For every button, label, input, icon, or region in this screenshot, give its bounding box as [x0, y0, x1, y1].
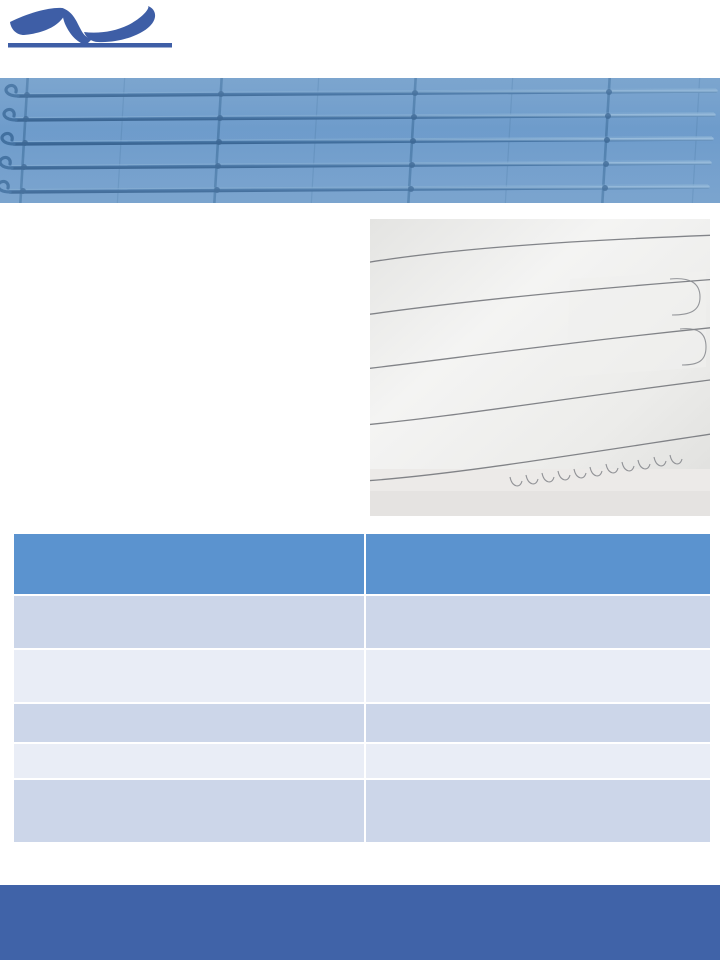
table-row: [14, 780, 710, 842]
table-cell-value: [366, 650, 710, 704]
poster-page: [0, 0, 720, 960]
product-photo: [370, 219, 710, 516]
website-url[interactable]: [0, 885, 720, 895]
table-row: [14, 650, 710, 704]
table-cell-label: [14, 704, 366, 744]
table-row: [14, 534, 710, 596]
table-cell-label: [14, 780, 366, 842]
contact-footer: [0, 885, 720, 960]
table-cell-label: [14, 650, 366, 704]
table-row: [14, 744, 710, 780]
table-cell-label: [14, 596, 366, 650]
table-cell-value: [366, 780, 710, 842]
header-banner: [0, 78, 720, 203]
table-cell-value: [366, 596, 710, 650]
banner-mesh-background-image: [0, 78, 720, 203]
wave-swoosh-logo-icon: [6, 4, 174, 52]
table-row: [14, 704, 710, 744]
mesh-belt-photograph: [370, 219, 710, 516]
table-row: [14, 596, 710, 650]
table-cell-value: [366, 534, 710, 596]
company-logo: [6, 4, 176, 74]
applicable-equipment-section: [22, 245, 367, 251]
table-cell-value: [366, 744, 710, 780]
specifications-table: [14, 534, 710, 842]
table-cell-value: [366, 704, 710, 744]
table-cell-label: [14, 534, 366, 596]
table-cell-label: [14, 744, 366, 780]
